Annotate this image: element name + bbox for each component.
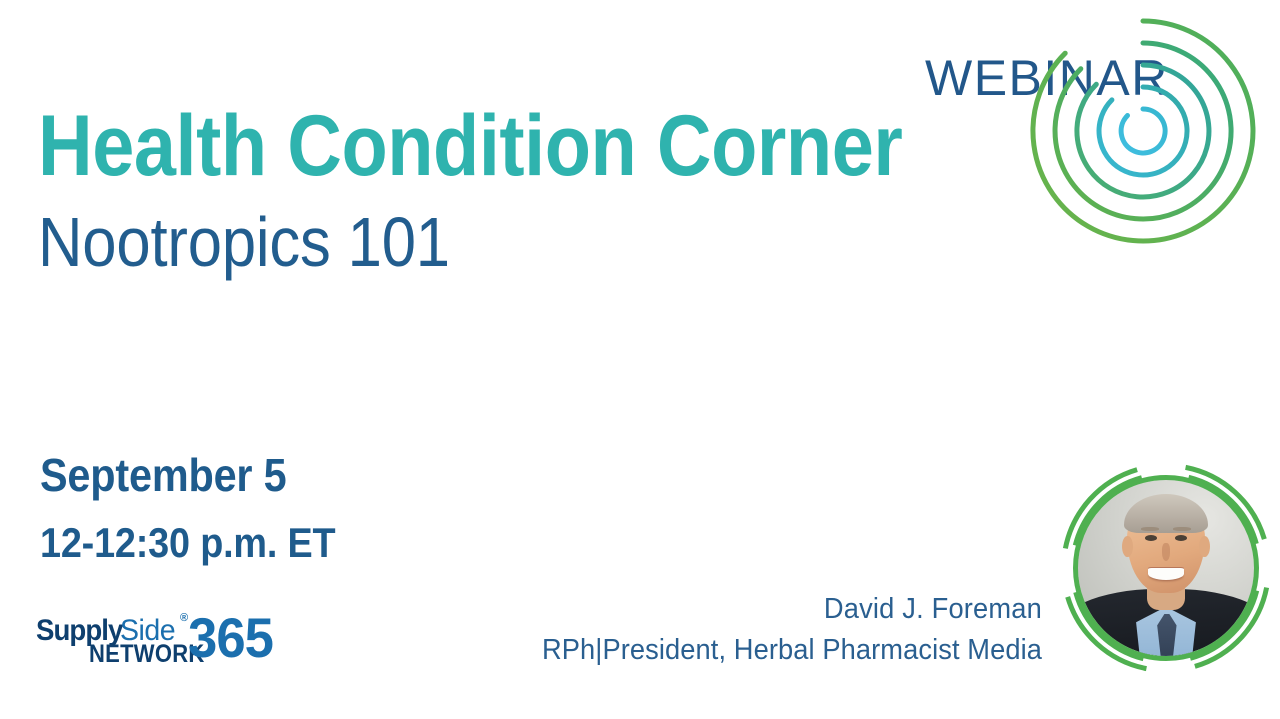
radiating-arcs-svg [1018,4,1276,260]
speaker-headshot [1056,458,1276,678]
speaker-credit-block: David J. Foreman RPh|President, Herbal P… [402,592,1042,667]
headline-block: Health Condition Corner Nootropics 101 [38,100,938,282]
logo-word-365: 365 [188,610,273,666]
speaker-role: RPh|President, Herbal Pharmacist Media [440,633,1042,667]
event-date: September 5 [40,448,454,502]
event-time: 12-12:30 p.m. ET [40,518,454,568]
portrait-solid-ring [1073,475,1259,661]
webinar-promo-slide: WEBINAR [0,0,1280,719]
radiating-arcs-icon [1018,4,1276,260]
page-title: Health Condition Corner [38,100,830,192]
event-datetime-block: September 5 12-12:30 p.m. ET [40,448,500,568]
registered-trademark-icon: ® [180,612,188,624]
speaker-name: David J. Foreman [440,592,1042,626]
supplyside-network-365-logo[interactable]: Supply Side ® NETWORK 365 [36,608,286,670]
page-subtitle: Nootropics 101 [38,202,830,282]
